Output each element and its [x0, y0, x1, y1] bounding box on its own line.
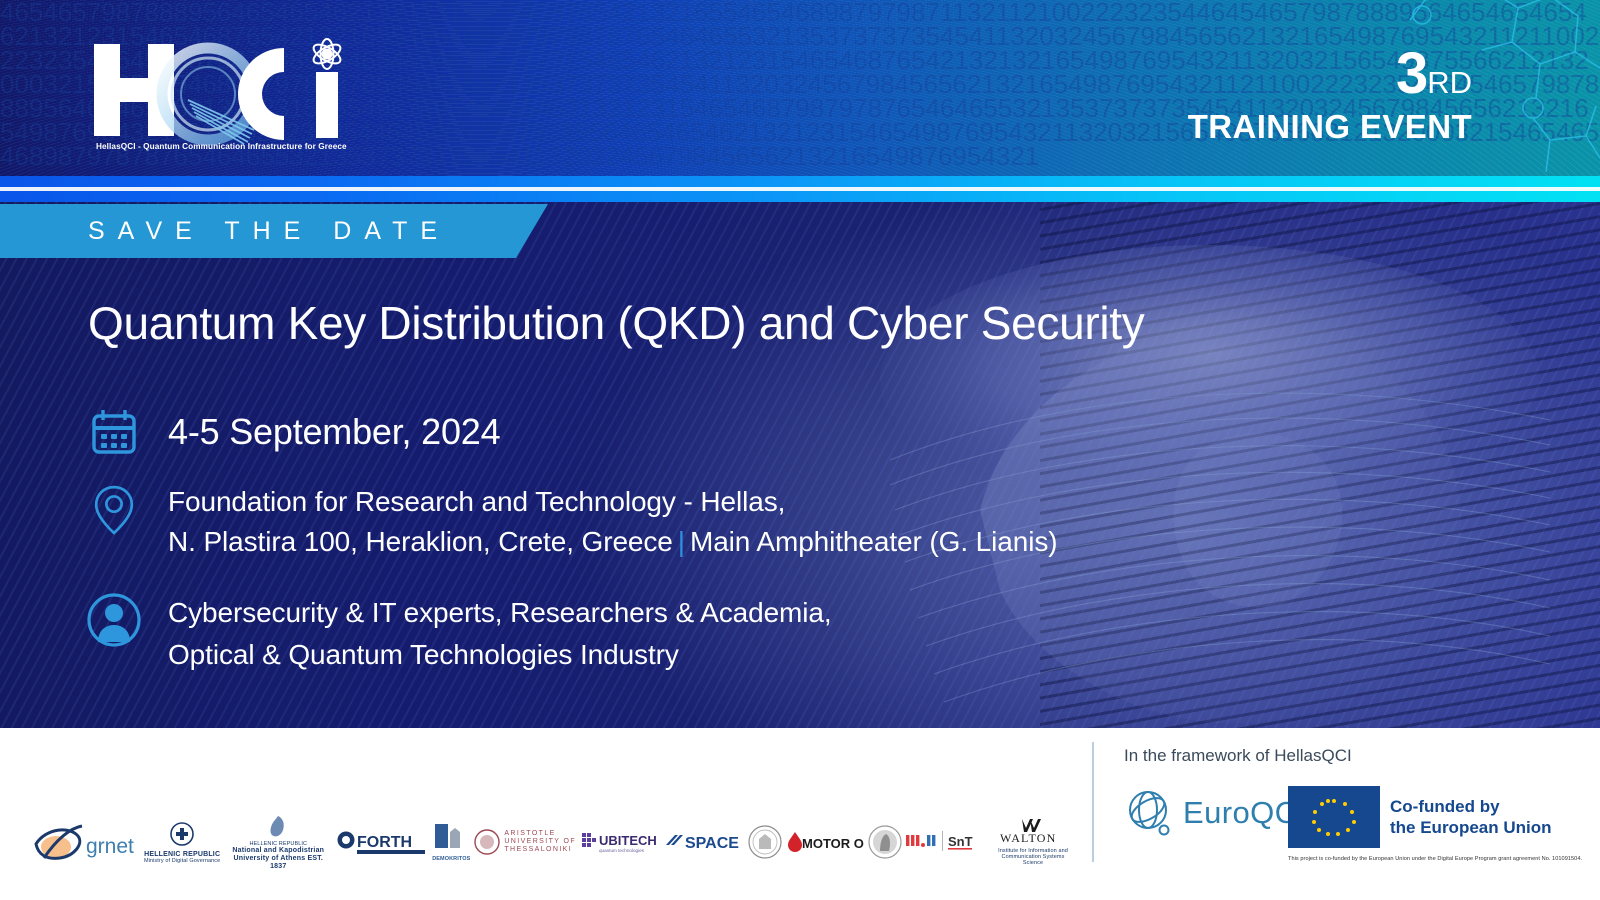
location-row: Foundation for Research and Technology -… [86, 482, 1057, 562]
ubitech-logo-label: UBITECH [599, 833, 657, 848]
space-logo-mark: SPACE [666, 831, 744, 853]
partner-logo-space: SPACE [666, 831, 744, 853]
university-seal-icon [748, 825, 782, 859]
location-address: N. Plastira 100, Heraklion, Crete, Greec… [168, 526, 673, 557]
hellenic-republic-label: HELLENIC REPUBLIC [144, 851, 220, 858]
auth-emblem-icon [474, 829, 500, 855]
location-venue: Main Amphitheater (G. Lianis) [690, 526, 1058, 557]
demokritos-emblem-icon [434, 822, 468, 854]
greek-seal-icon [868, 825, 902, 859]
walton-logo-mark: WALTON [996, 818, 1070, 848]
auth-label: ARISTOTLE UNIVERSITY OF THESSALONIKI [504, 830, 578, 854]
person-icon [86, 592, 142, 648]
nkua-sub: National and Kapodistrian University of … [224, 847, 332, 871]
partner-logo-nkua: HELLENIC REPUBLIC National and Kapodistr… [224, 814, 332, 871]
date-row: 4-5 September, 2024 [86, 404, 500, 460]
demokritos-label: DEMOKRITOS [432, 856, 470, 862]
hellenic-republic-sub: Ministry of Digital Governance [144, 858, 220, 864]
partner-logo-unilu-snt: SnT [906, 829, 992, 855]
partner-logo-ubitech: UBITECH quantum technologies [582, 829, 662, 855]
nkua-emblem-icon [265, 814, 291, 840]
partner-logo-auth: ARISTOTLE UNIVERSITY OF THESSALONIKI [474, 829, 578, 855]
partner-logo-grnet: grnet [30, 820, 140, 864]
event-title: TRAINING EVENT [1188, 108, 1472, 146]
save-the-date-ribbon: SAVE THE DATE [0, 204, 548, 258]
audience-line-2: Optical & Quantum Technologies Industry [168, 634, 832, 676]
svg-text:SnT: SnT [948, 834, 973, 849]
ubitech-logo-sub: quantum technologies [599, 848, 645, 853]
calendar-icon [86, 404, 142, 460]
gradient-divider-bar [0, 176, 1600, 202]
audience-text: Cybersecurity & IT experts, Researchers … [168, 592, 832, 676]
partner-logo-greek-seal [868, 825, 902, 859]
location-line-1: Foundation for Research and Technology -… [168, 482, 1057, 522]
partner-logo-university-seal [748, 825, 782, 859]
motor-oil-logo-label: MOTOR OIL [802, 836, 864, 851]
eu-flag-icon [1288, 786, 1380, 848]
ubitech-logo-mark: UBITECH quantum technologies [582, 829, 662, 855]
eu-funding-text: Co-funded by the European Union [1390, 796, 1552, 838]
framework-label: In the framework of HellasQCI [1124, 746, 1352, 766]
audience-line-1: Cybersecurity & IT experts, Researchers … [168, 592, 832, 634]
euroqci-logo-mark [1122, 786, 1176, 840]
hqci-logo-mark [88, 38, 388, 148]
audience-row: Cybersecurity & IT experts, Researchers … [86, 592, 832, 676]
footer-section: grnet HELLENIC REPUBLIC Ministry of Digi… [0, 728, 1600, 900]
location-separator: | [673, 526, 690, 557]
eu-funding-line-1: Co-funded by [1390, 796, 1552, 817]
hellenic-republic-emblem-icon [167, 821, 197, 849]
event-ordinal: 3RD [1396, 48, 1472, 101]
euroqci-logo: EuroQCI [1122, 786, 1306, 840]
event-date: 4-5 September, 2024 [168, 404, 500, 460]
partner-logo-walton: WALTON Institute for Information and Com… [996, 818, 1070, 866]
eu-funding-line-2: the European Union [1390, 817, 1552, 838]
event-ordinal-number: 3 [1396, 41, 1427, 106]
grnet-logo-label: grnet [86, 835, 134, 858]
forth-logo-mark: FORTH [336, 827, 428, 857]
event-poster: 4654657987888956465465462132123154654687… [0, 0, 1600, 900]
motor-oil-logo-mark: MOTOR OIL [786, 830, 864, 854]
save-the-date-label: SAVE THE DATE [88, 217, 450, 246]
location-text: Foundation for Research and Technology -… [168, 482, 1057, 562]
logo-tagline: HellasQCI - Quantum Communication Infras… [96, 142, 386, 151]
walton-logo-label: WALTON [1000, 831, 1057, 845]
partner-logos-section: grnet HELLENIC REPUBLIC Ministry of Digi… [0, 728, 1092, 900]
hqci-logo: HellasQCI - Quantum Communication Infras… [88, 38, 388, 158]
sculpture-head-graphic [860, 210, 1560, 730]
location-line-2: N. Plastira 100, Heraklion, Crete, Greec… [168, 522, 1057, 562]
space-logo-label: SPACE [685, 835, 739, 852]
eu-funding-block: Co-funded by the European Union [1288, 786, 1552, 848]
event-ordinal-suffix: RD [1427, 65, 1472, 100]
partner-logo-hellenic-republic-ministry: HELLENIC REPUBLIC Ministry of Digital Go… [144, 821, 220, 864]
footer-divider [1092, 742, 1094, 862]
map-pin-icon [86, 482, 142, 538]
partner-logo-demokritos: DEMOKRITOS [432, 822, 470, 862]
page-title: Quantum Key Distribution (QKD) and Cyber… [88, 296, 1388, 350]
partner-logo-strip: grnet HELLENIC REPUBLIC Ministry of Digi… [30, 812, 1070, 872]
partner-logo-forth: FORTH [336, 827, 428, 857]
unilu-snt-logo-mark: SnT [906, 829, 992, 855]
grnet-logo-mark: grnet [30, 820, 140, 864]
partner-logo-motor-oil: MOTOR OIL [786, 830, 864, 854]
eu-disclaimer-text: This project is co-funded by the Europea… [1288, 856, 1582, 862]
forth-logo-label: FORTH [357, 834, 412, 851]
hero-section: 4654657987888956465465462132123154654687… [0, 0, 1600, 728]
header-band: 4654657987888956465465462132123154654687… [0, 0, 1600, 176]
walton-logo-sub: Institute for Information and Communicat… [997, 848, 1069, 866]
